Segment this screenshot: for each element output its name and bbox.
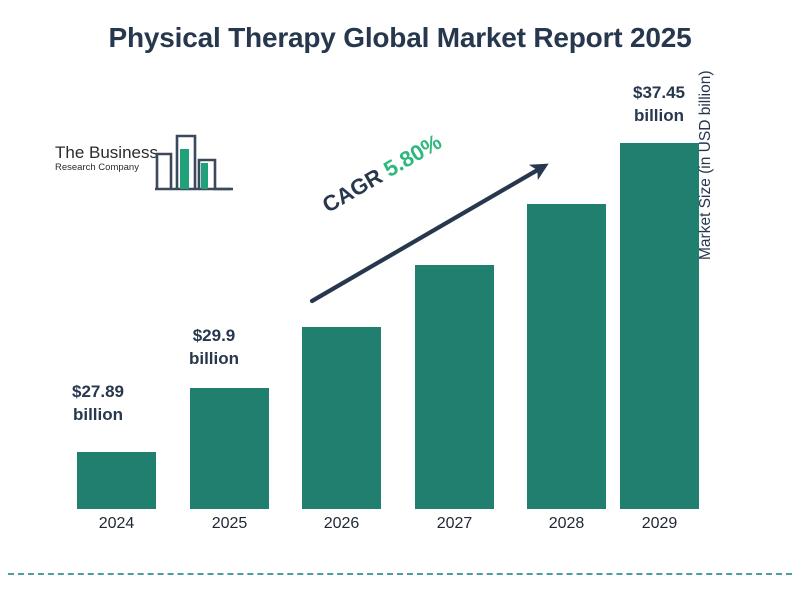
bar-2027 xyxy=(415,265,494,509)
bar-value-label-2025: $29.9 billion xyxy=(164,325,264,371)
bar-value-amount-2024: $27.89 xyxy=(48,381,148,404)
x-tick-label-2026: 2026 xyxy=(302,515,381,533)
y-axis-title: Market Size (in USD billion) xyxy=(697,0,715,260)
bar-value-unit-2024: billion xyxy=(48,404,148,427)
infographic-canvas: Physical Therapy Global Market Report 20… xyxy=(0,0,800,600)
cagr-value: 5.80% xyxy=(379,129,445,182)
bar-value-amount-2025: $29.9 xyxy=(164,325,264,348)
bar-2025 xyxy=(190,388,269,509)
bar-value-label-2024: $27.89 billion xyxy=(48,381,148,427)
x-tick-label-2024: 2024 xyxy=(77,515,156,533)
x-tick-label-2025: 2025 xyxy=(190,515,269,533)
footer-divider xyxy=(8,573,792,575)
bar-2029 xyxy=(620,143,699,509)
cagr-annotation: CAGR 5.80% xyxy=(318,129,446,219)
bar-2024 xyxy=(77,452,156,509)
x-tick-label-2027: 2027 xyxy=(415,515,494,533)
bar-value-unit-2025: billion xyxy=(164,348,264,371)
bar-2026 xyxy=(302,327,381,509)
bar-2028 xyxy=(527,204,606,509)
cagr-label: CAGR xyxy=(318,163,387,217)
bar-chart-plot-area: $27.89 billion $29.9 billion $37.45 bill… xyxy=(0,0,800,600)
x-tick-label-2028: 2028 xyxy=(527,515,606,533)
x-tick-label-2029: 2029 xyxy=(620,515,699,533)
